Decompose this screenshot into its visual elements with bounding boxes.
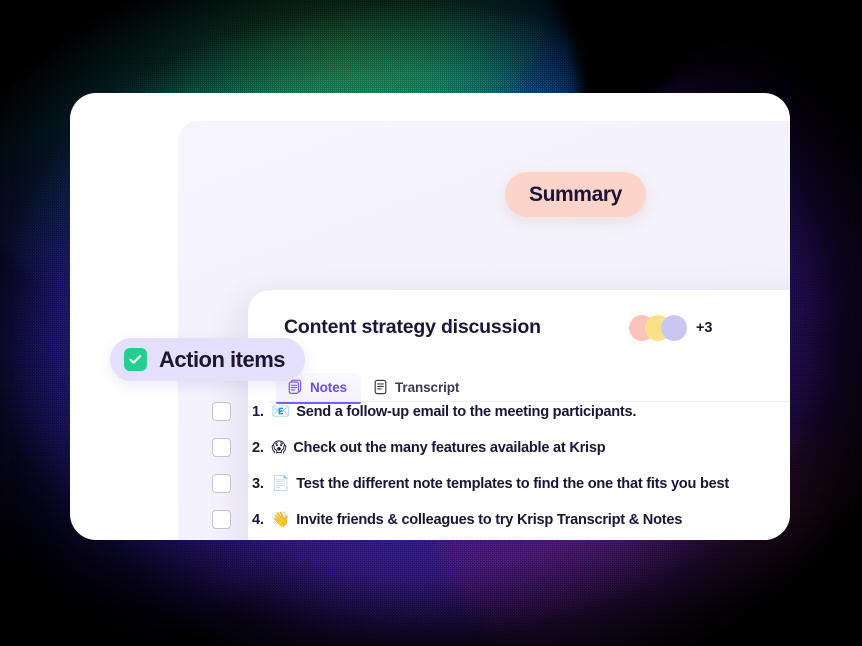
list-item[interactable]: 3. 📄 Test the different note templates t… [212, 465, 802, 501]
action-item-checkbox[interactable] [212, 438, 231, 457]
page-title: Content strategy discussion [284, 316, 541, 339]
check-square-icon [124, 348, 147, 371]
list-item[interactable]: 1. 📧 Send a follow-up email to the meeti… [212, 393, 802, 429]
action-item-body: Invite friends & colleagues to try Krisp… [296, 512, 682, 528]
action-item-text: 4. 👋 Invite friends & colleagues to try … [252, 510, 682, 528]
action-item-number: 3. [252, 476, 264, 492]
action-item-body: Test the different note templates to fin… [296, 476, 729, 492]
action-item-text: 3. 📄 Test the different note templates t… [252, 474, 729, 492]
avatar-overflow-count: +3 [696, 320, 712, 336]
list-item[interactable]: 2. 😱 Check out the many features availab… [212, 429, 802, 465]
action-item-body: Check out the many features available at… [293, 440, 605, 456]
action-item-number: 1. [252, 404, 264, 420]
avatar [661, 315, 687, 341]
action-item-number: 2. [252, 440, 264, 456]
page-icon: 📄 [271, 475, 289, 492]
status-badge-summary[interactable]: Summary [505, 172, 646, 217]
action-item-body: Send a follow-up email to the meeting pa… [296, 404, 636, 420]
action-item-checkbox[interactable] [212, 402, 231, 421]
action-item-text: 1. 📧 Send a follow-up email to the meeti… [252, 402, 636, 420]
list-item[interactable]: 4. 👋 Invite friends & colleagues to try … [212, 501, 802, 537]
participant-avatar-stack[interactable]: +3 [629, 315, 712, 341]
action-item-number: 4. [252, 512, 264, 528]
email-icon: 📧 [271, 403, 289, 420]
app-stage: Content strategy discussion +3 [0, 0, 862, 646]
waving-hand-icon: 👋 [271, 511, 289, 528]
action-items-list: 1. 📧 Send a follow-up email to the meeti… [212, 393, 802, 537]
screaming-face-icon: 😱 [271, 439, 286, 456]
section-badge-action-items[interactable]: Action items [110, 338, 305, 381]
action-item-checkbox[interactable] [212, 510, 231, 529]
action-items-label: Action items [159, 347, 285, 373]
summary-badge-label: Summary [529, 183, 622, 207]
action-item-checkbox[interactable] [212, 474, 231, 493]
action-item-text: 2. 😱 Check out the many features availab… [252, 439, 605, 456]
